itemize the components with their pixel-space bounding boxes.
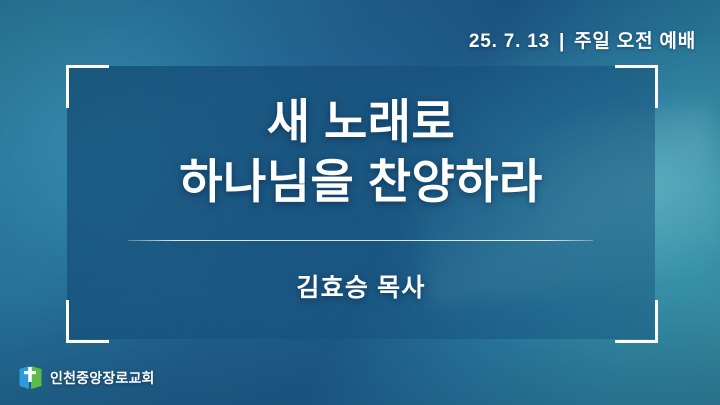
sermon-title-slide: 25. 7. 13|주일 오전 예배 새 노래로 하나님을 찬양하라 김효승 목… xyxy=(0,0,720,405)
header-separator: | xyxy=(550,31,574,53)
service-date: 25. 7. 13 xyxy=(469,31,550,52)
service-name: 주일 오전 예배 xyxy=(574,31,696,52)
corner-bracket-bottom-left xyxy=(66,300,109,343)
sermon-title: 새 노래로 하나님을 찬양하라 xyxy=(67,92,655,212)
church-branding: 인천중앙장로교회 xyxy=(18,364,155,391)
title-divider xyxy=(128,240,593,241)
header-meta: 25. 7. 13|주일 오전 예배 xyxy=(0,26,696,53)
church-open-book-cross-logo-icon xyxy=(18,364,43,391)
sermon-title-line-2: 하나님을 찬양하라 xyxy=(67,152,655,212)
corner-bracket-bottom-right xyxy=(615,300,658,343)
speaker-name: 김효승 목사 xyxy=(67,268,655,304)
church-name-label: 인천중앙장로교회 xyxy=(50,368,155,388)
sermon-title-line-1: 새 노래로 xyxy=(67,92,655,152)
